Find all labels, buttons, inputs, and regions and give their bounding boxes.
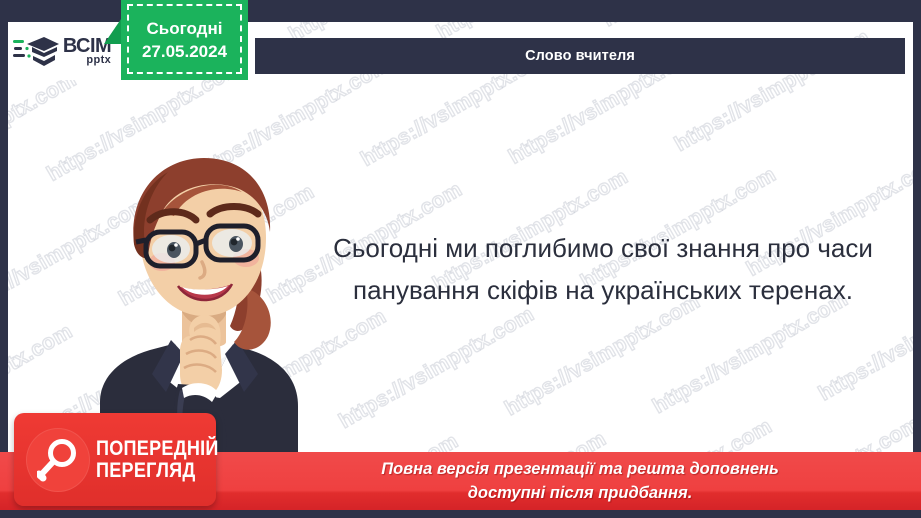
preview-badge-line2: ПЕРЕГЛЯД (96, 460, 219, 481)
date-badge: Сьогодні 27.05.2024 (121, 0, 248, 80)
slide-body-text: Сьогодні ми поглибимо свої знання про ча… (323, 227, 883, 311)
brand-logo[interactable]: ВСІМ pptx (8, 22, 116, 80)
preview-badge-line1: ПОПЕРЕДНІЙ (96, 438, 219, 459)
bottom-frame-strip (0, 510, 921, 518)
graduation-cap-icon (13, 33, 59, 69)
page-title: Слово вчителя (525, 48, 635, 64)
date-badge-label: Сьогодні (147, 18, 223, 39)
preview-badge[interactable]: ПОПЕРЕДНІЙ ПЕРЕГЛЯД (14, 413, 216, 506)
watermark-text: https://vsimpptx.com (599, 22, 802, 31)
purchase-banner-line2: доступні після придбання. (280, 482, 880, 506)
watermark-text: https://vsimpptx.com (335, 302, 538, 433)
magnifier-icon (26, 428, 90, 492)
purchase-banner-text: Повна версія презентації та решта доповн… (280, 458, 880, 506)
slide-stage: https://vsimpptx.comhttps://vsimpptx.com… (0, 0, 921, 518)
logo-name: ВСІМ (63, 36, 111, 56)
date-badge-date: 27.05.2024 (142, 41, 227, 62)
slide-header-bar: Слово вчителя (255, 38, 905, 74)
purchase-banner-line1: Повна версія презентації та решта доповн… (280, 458, 880, 482)
